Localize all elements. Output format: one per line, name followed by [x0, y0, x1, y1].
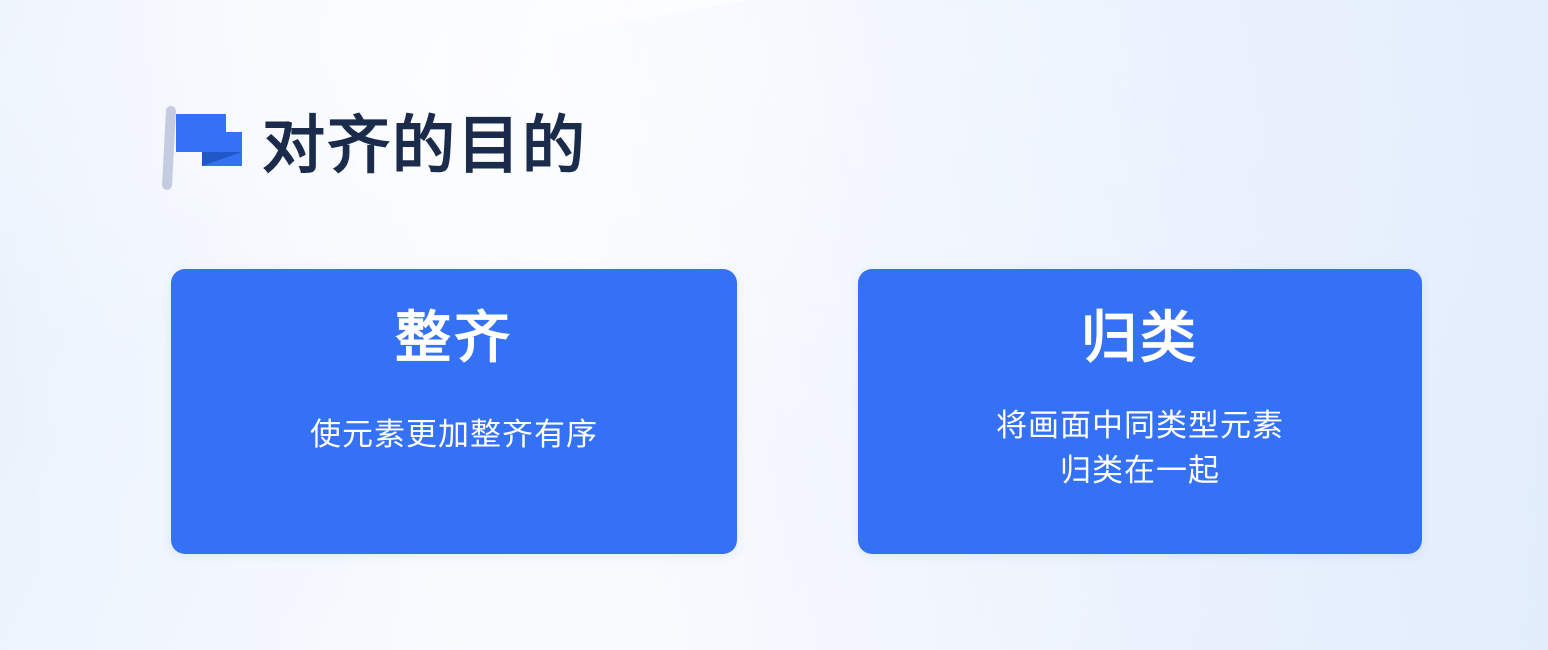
- card-grouping-subtitle: 将画面中同类型元素 归类在一起: [996, 404, 1284, 494]
- card-grouping-title: 归类: [1081, 305, 1199, 371]
- page-title: 对齐的目的: [262, 113, 587, 179]
- card-neatness[interactable]: 整齐 使元素更加整齐有序: [171, 269, 737, 554]
- slide-canvas: 对齐的目的 整齐 使元素更加整齐有序 归类 将画面中同类型元素 归类在一起: [0, 0, 1548, 650]
- card-neatness-title: 整齐: [395, 305, 513, 371]
- card-grouping[interactable]: 归类 将画面中同类型元素 归类在一起: [858, 269, 1422, 554]
- card-neatness-subtitle: 使元素更加整齐有序: [310, 413, 598, 458]
- flag-icon: [160, 100, 244, 192]
- page-heading: 对齐的目的: [160, 100, 587, 192]
- cards-row: 整齐 使元素更加整齐有序 归类 将画面中同类型元素 归类在一起: [171, 269, 1422, 554]
- slide-content: 对齐的目的 整齐 使元素更加整齐有序 归类 将画面中同类型元素 归类在一起: [0, 0, 1548, 650]
